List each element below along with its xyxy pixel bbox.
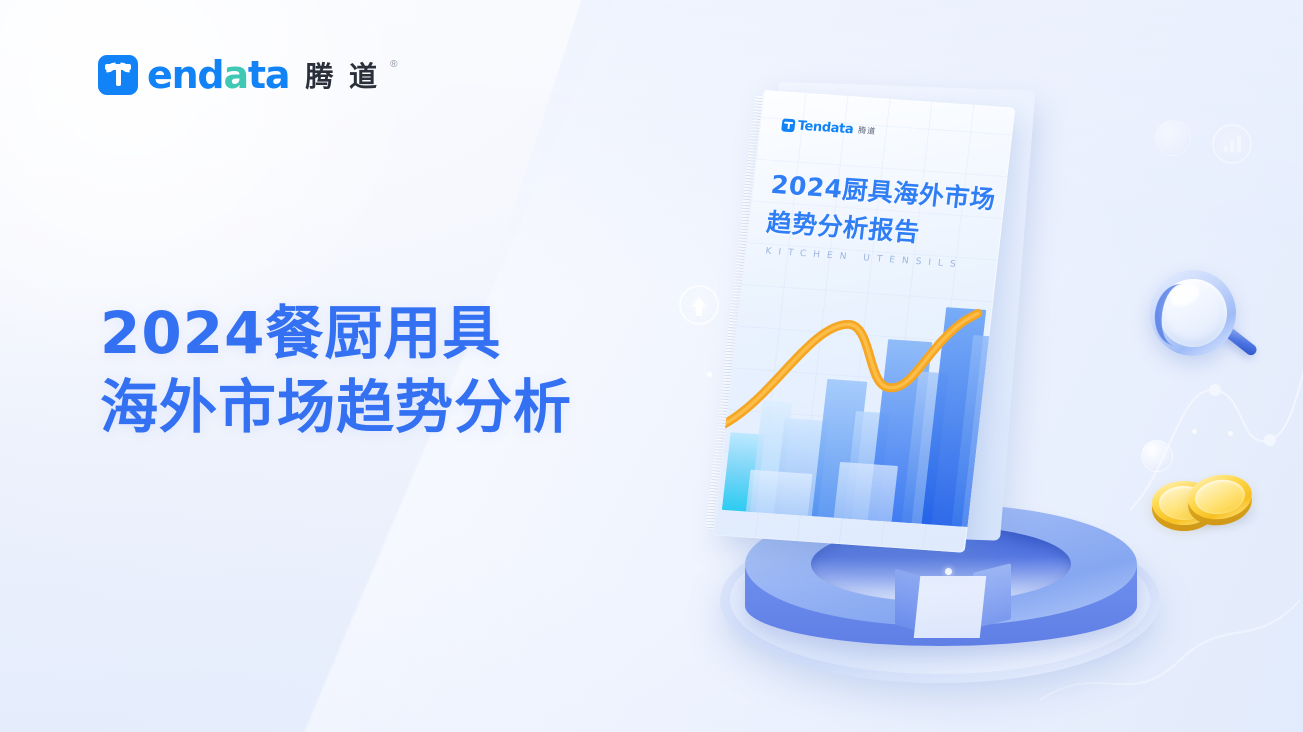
magnifier-icon: [1150, 270, 1260, 380]
book-front-cover: Tendata 腾道 2024厨具海外市场 趋势分析报告 KITCHEN UTE…: [713, 90, 1015, 553]
logo-word-ta: ta: [248, 53, 289, 97]
brand-logo[interactable]: endata 腾 道 ®: [98, 55, 397, 95]
logo-word-end: end: [147, 53, 223, 97]
trend-line-overlay: [717, 276, 1004, 464]
poster-canvas: endata 腾 道 ® 2024餐厨用具 海外市场趋势分析: [0, 0, 1303, 732]
podium-highlight-dot: [945, 568, 952, 575]
logo-chinese: 腾 道: [305, 55, 380, 95]
registered-mark: ®: [390, 59, 397, 70]
logo-word-accent: a: [223, 53, 247, 97]
headline-line-1: 2024餐厨用具: [100, 299, 501, 367]
book-logo-chinese: 腾道: [858, 125, 877, 137]
headline-line-2: 海外市场趋势分析: [100, 370, 572, 444]
book-logo-mark-icon: [781, 118, 795, 132]
tendata-t-mark-icon: [98, 55, 138, 95]
report-book: Tendata 腾道 2024厨具海外市场 趋势分析报告 KITCHEN UTE…: [713, 90, 1032, 556]
page-title: 2024餐厨用具 海外市场趋势分析: [100, 296, 572, 444]
gold-coins: [1150, 465, 1270, 545]
logo-wordmark: endata: [147, 55, 289, 95]
hero-illustration: Tendata 腾道 2024厨具海外市场 趋势分析报告 KITCHEN UTE…: [610, 80, 1250, 680]
